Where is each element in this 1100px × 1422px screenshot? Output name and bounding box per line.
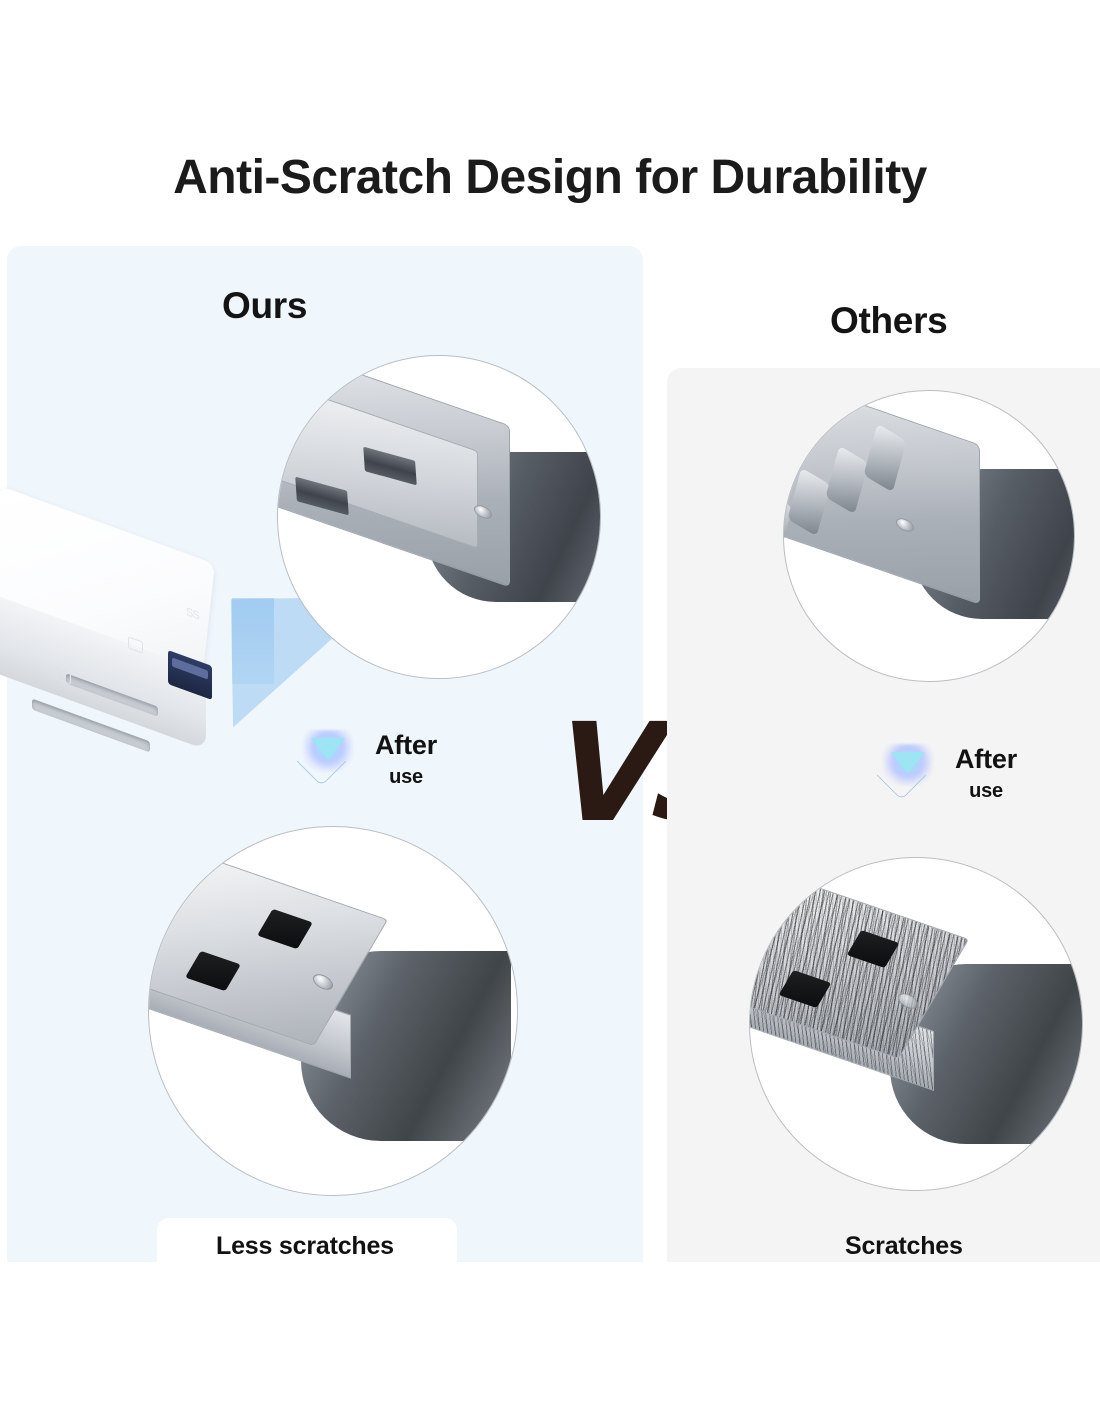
- circle-others-before: [783, 390, 1075, 682]
- circle-ours-after: [148, 826, 518, 1196]
- after-use-badge-ours: After use: [295, 728, 437, 789]
- chevron-down-icon: [295, 728, 361, 784]
- page-title: Anti-Scratch Design for Durability: [0, 150, 1100, 205]
- after-use-text-ours: After use: [375, 728, 437, 789]
- header-others: Others: [830, 300, 947, 342]
- caption-ours: Less scratches: [216, 1232, 394, 1261]
- after-use-text-others: After use: [955, 742, 1017, 803]
- header-ours: Ours: [222, 285, 307, 327]
- caption-others: Scratches: [845, 1232, 963, 1261]
- after-sub-ours: use: [375, 766, 437, 789]
- after-label-others: After: [955, 746, 1017, 773]
- chevron-down-icon: [875, 742, 941, 798]
- card-reader-device: SS: [0, 512, 270, 777]
- after-use-badge-others: After use: [875, 742, 1017, 803]
- circle-others-after: [749, 857, 1083, 1191]
- after-sub-others: use: [955, 780, 1017, 803]
- circle-ours-before: [277, 355, 601, 679]
- after-label-ours: After: [375, 732, 437, 759]
